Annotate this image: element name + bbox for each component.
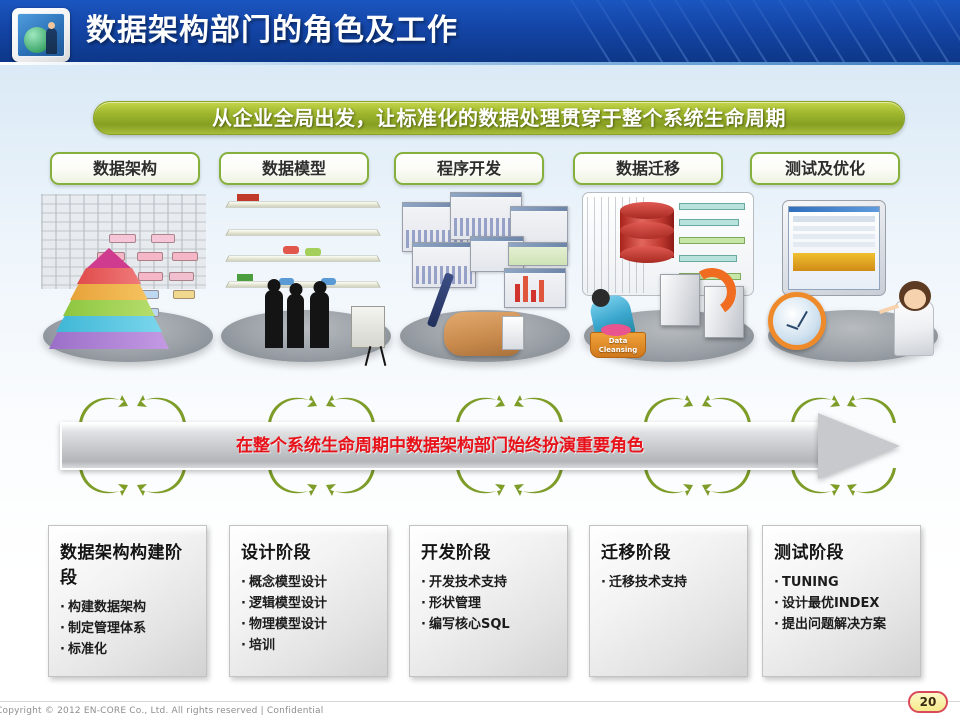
diagram-node <box>151 234 175 243</box>
flipchart-easel <box>351 306 385 348</box>
stage-label-test-optimize[interactable]: 测试及优化 <box>750 152 900 185</box>
model-layer-sheet <box>225 202 380 208</box>
monitor-icon <box>782 200 886 296</box>
phase-box-design[interactable]: 设计阶段 概念模型设计 逻辑模型设计 物理模型设计 培训 <box>229 525 388 677</box>
chart-window <box>508 242 568 266</box>
list-item: 编写核心SQL <box>421 614 558 635</box>
list-item: 提出问题解决方案 <box>774 614 911 635</box>
phase-box-title: 数据架构构建阶段 <box>60 538 197 588</box>
stage-label-text: 数据架构 <box>52 154 198 183</box>
doctor-character <box>894 300 934 356</box>
data-cleansing-basket: Data Cleansing <box>590 332 646 358</box>
phase-box-items: 概念模型设计 逻辑模型设计 物理模型设计 培训 <box>241 572 378 656</box>
arrow-band-text: 在整个系统生命周期中数据架构部门始终扮演重要角色 <box>60 422 820 470</box>
list-item: 设计最优INDEX <box>774 593 911 614</box>
page-title: 数据架构部门的角色及工作 <box>86 8 458 54</box>
list-item: TUNING <box>774 572 911 593</box>
pyramid-graphic <box>49 248 169 350</box>
stage-label-data-architecture[interactable]: 数据架构 <box>50 152 200 185</box>
list-item: 标准化 <box>60 639 197 660</box>
list-item: 逻辑模型设计 <box>241 593 378 614</box>
stage-label-data-model[interactable]: 数据模型 <box>219 152 369 185</box>
footer-copyright: Copyright © 2012 EN-CORE Co., Ltd. All r… <box>0 706 323 716</box>
illustration-pyramid-architecture <box>35 190 221 370</box>
phase-box-items: 开发技术支持 形状管理 编写核心SQL <box>421 572 558 635</box>
phase-box-title: 测试阶段 <box>774 538 911 563</box>
clock-icon <box>768 292 826 350</box>
layer-tag <box>237 274 253 281</box>
diagram-node <box>173 290 195 299</box>
database-cylinder-icon <box>620 202 674 262</box>
phase-box-title: 迁移阶段 <box>601 538 738 563</box>
list-item: 制定管理体系 <box>60 618 197 639</box>
chart-window <box>504 268 566 308</box>
easel-leg <box>380 346 387 366</box>
model-layer-sheet <box>225 230 380 236</box>
layer-node <box>305 248 321 256</box>
diagram-node <box>109 234 136 243</box>
list-item: 物理模型设计 <box>241 614 378 635</box>
phase-box-architecture[interactable]: 数据架构构建阶段 构建数据架构 制定管理体系 标准化 <box>48 525 207 677</box>
diagram-node <box>169 272 194 281</box>
page-number-badge: 20 <box>908 691 948 713</box>
model-layer-sheet <box>225 282 380 288</box>
hand-graphic <box>444 312 522 356</box>
phase-box-items: 迁移技术支持 <box>601 572 738 593</box>
list-item: 形状管理 <box>421 593 558 614</box>
header-ray-decoration <box>530 0 960 62</box>
arrow-head <box>818 413 900 479</box>
stage-label-text: 数据模型 <box>221 154 367 183</box>
layer-tag <box>237 194 259 201</box>
model-layer-sheet <box>225 256 380 262</box>
layer-node <box>283 246 299 254</box>
person-icon <box>46 28 57 54</box>
phase-box-items: TUNING 设计最优INDEX 提出问题解决方案 <box>774 572 911 635</box>
list-item: 开发技术支持 <box>421 572 558 593</box>
slide-header: 数据架构部门的角色及工作 <box>0 0 960 62</box>
phase-box-migration[interactable]: 迁移阶段 迁移技术支持 <box>589 525 748 677</box>
phase-box-title: 设计阶段 <box>241 538 378 563</box>
diagram-node <box>172 252 198 261</box>
list-item: 迁移技术支持 <box>601 572 738 593</box>
illustration-application-windows <box>392 190 578 370</box>
stage-label-text: 数据迁移 <box>575 154 721 183</box>
list-item: 概念模型设计 <box>241 572 378 593</box>
presentation-monitor-icon <box>12 8 70 62</box>
stage-label-program-development[interactable]: 程序开发 <box>394 152 544 185</box>
illustration-test-optimize <box>760 190 946 370</box>
headline-banner: 从企业全局出发，让标准化的数据处理贯穿于整个系统生命周期 <box>93 101 905 135</box>
phase-box-items: 构建数据架构 制定管理体系 标准化 <box>60 597 197 660</box>
list-item: 培训 <box>241 635 378 656</box>
data-cleansing-label: Data Cleansing <box>591 333 645 355</box>
stage-label-text: 测试及优化 <box>752 154 898 183</box>
illustration-data-migration: Data Cleansing <box>576 190 762 370</box>
person-silhouette <box>265 290 283 348</box>
phase-box-title: 开发阶段 <box>421 538 558 563</box>
illustration-layered-model-workshop <box>213 190 399 370</box>
headline-banner-text: 从企业全局出发，让标准化的数据处理贯穿于整个系统生命周期 <box>94 102 904 134</box>
slide-canvas: 数据架构部门的角色及工作 从企业全局出发，让标准化的数据处理贯穿于整个系统生命周… <box>0 0 960 720</box>
header-underline <box>0 62 960 65</box>
lifecycle-arrow-band: 在整个系统生命周期中数据架构部门始终扮演重要角色 <box>60 418 900 474</box>
footer-divider <box>0 701 960 702</box>
phase-box-development[interactable]: 开发阶段 开发技术支持 形状管理 编写核心SQL <box>409 525 568 677</box>
stage-label-data-migration[interactable]: 数据迁移 <box>573 152 723 185</box>
phase-box-test[interactable]: 测试阶段 TUNING 设计最优INDEX 提出问题解决方案 <box>762 525 921 677</box>
person-silhouette <box>287 294 304 348</box>
stage-label-text: 程序开发 <box>396 154 542 183</box>
list-item: 构建数据架构 <box>60 597 197 618</box>
person-silhouette <box>310 292 329 348</box>
